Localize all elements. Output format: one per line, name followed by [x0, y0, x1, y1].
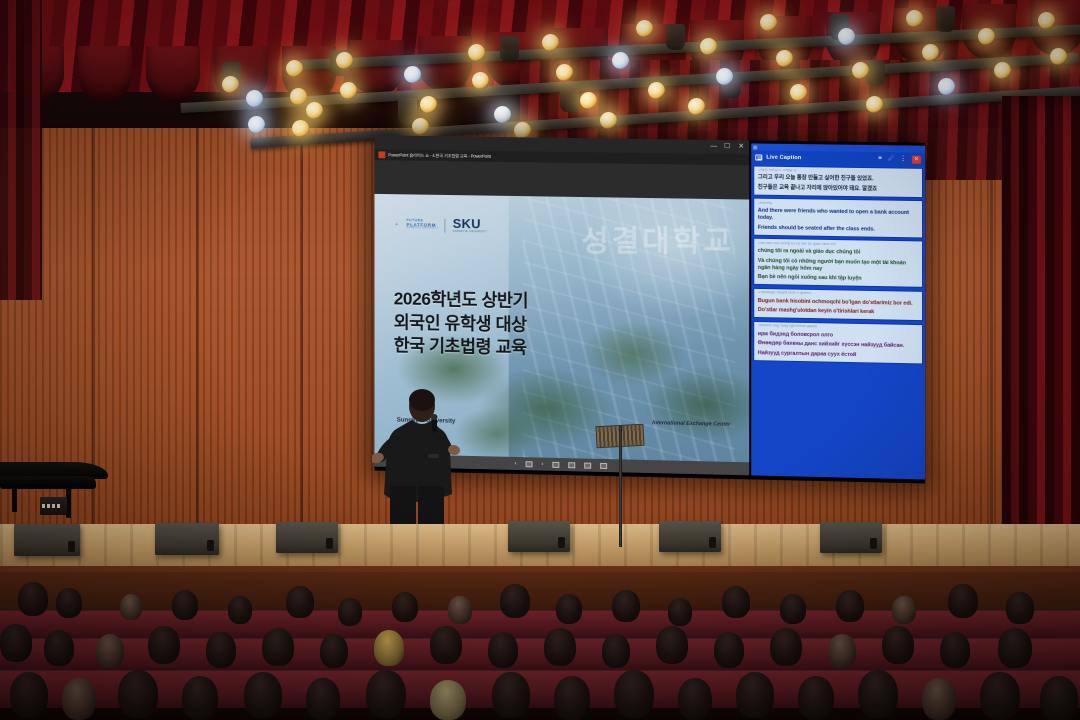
right-stage-curtain [1002, 96, 1080, 566]
stage-monitor [508, 521, 570, 552]
stage-light [248, 116, 265, 133]
caption-line: Bugun bank hisobini ochmoqchi bo'lgan do… [758, 298, 919, 308]
stage-light [938, 78, 955, 95]
stage-light [790, 84, 807, 101]
maximize-icon[interactable]: ☐ [724, 143, 731, 150]
slide-logo-group: ✦ FUTURE PLATFORM SUNGKYUL UNIVERSITY SK… [394, 216, 486, 234]
caption-line: Friends should be seated after the class… [758, 225, 919, 235]
caption-line: ирж бидэнд боловсрол олго [758, 331, 919, 341]
stage-light [292, 120, 309, 137]
stage-light [636, 20, 653, 37]
stage-monitor [155, 523, 219, 555]
sku-logo-text: SKU [453, 217, 487, 230]
stage-monitor [659, 521, 721, 552]
caption-faded-text: Giáo dục của chúng tôi và bạn sẽ quản cả… [758, 242, 919, 249]
caption-list[interactable]: 그래서 여러분이 교육을 다 그리고 우리 오늘 통장 만들고 싶어한 친구들 … [751, 163, 925, 479]
amplifier [40, 497, 67, 515]
caption-block-english: Learning. And there were friends who wan… [753, 198, 923, 238]
caption-line: And there were friends who wanted to ope… [758, 208, 919, 225]
stage-light [600, 112, 617, 129]
close-icon[interactable]: ✕ [738, 143, 745, 150]
caption-line: 그리고 우리 오늘 통장 만들고 싶어한 친구들 있었죠. [758, 175, 919, 184]
sku-logo-sub: SUNGKYUL UNIVERSITY [453, 231, 487, 234]
stage-light [580, 92, 597, 109]
audience-area [0, 572, 1080, 720]
view-sorter-icon[interactable] [568, 462, 575, 468]
ribbon-area [374, 160, 749, 199]
caption-faded-text: Learning. [758, 202, 919, 208]
minimize-icon[interactable]: — [710, 143, 717, 150]
future-platform-mark-icon: ✦ [394, 222, 398, 228]
stage-light [994, 62, 1011, 79]
live-caption-title: Live Caption [766, 154, 873, 162]
view-normal-icon[interactable] [552, 461, 559, 467]
stage-light [306, 102, 323, 119]
stage-light [906, 10, 923, 27]
stage-light [472, 72, 489, 89]
share-icon[interactable]: ☄ [888, 155, 894, 162]
caption-line: 친구들은 교육 끝나고 자리에 앉아있어야 돼요. 알겠죠 [758, 185, 919, 194]
slide-ghost-text: 성결대학교 [581, 216, 735, 260]
view-menu-icon[interactable] [600, 462, 607, 468]
caption-line: Өнөөдөр банкны данс хийхийг хүссэн найзу… [758, 340, 919, 350]
previous-slide-icon[interactable]: ‹ [515, 460, 517, 466]
stage-light [838, 28, 855, 45]
link-icon[interactable]: ⚭ [877, 155, 883, 162]
stage-light [222, 76, 239, 93]
stage-light [246, 90, 263, 107]
stage-monitor [14, 524, 80, 556]
stage-light [700, 38, 717, 55]
stage-light [336, 52, 353, 69]
powerpoint-logo-icon [378, 151, 385, 158]
stage-light [542, 34, 559, 51]
stage-light [852, 62, 869, 79]
caption-block-mongolian: Тиймээс бид танд сургалтын дараа ирж бид… [753, 321, 923, 364]
live-caption-window[interactable]: Live Caption ⚭ ☄ ⋮ ✕ 그래서 여러분이 교육을 다 그리고 … [751, 143, 925, 479]
logo-divider [445, 218, 446, 232]
stage-light [412, 118, 429, 135]
stage-light [612, 52, 629, 69]
stage-light [290, 88, 307, 105]
stage-light [776, 50, 793, 67]
stage-light [688, 98, 705, 115]
stage-monitor [820, 522, 882, 553]
stage-light [468, 44, 485, 61]
stage-light [1038, 12, 1055, 29]
caption-faded-text: O'qishingiz haqida bizni o'qitamiz [758, 291, 919, 298]
system-dot-icon [753, 145, 757, 149]
caption-line: Do'stlar mashg'ulotdan keyin o'tirishlar… [758, 307, 919, 317]
caption-line: chúng tôi ra ngoài và giáo dục chúng tôi [758, 248, 919, 258]
slide-title: 2026학년도 상반기 외국인 유학생 대상 한국 기초법령 교육 [394, 288, 528, 360]
caption-block-uzbek: O'qishingiz haqida bizni o'qitamiz Bugun… [753, 288, 923, 322]
stage-light [1050, 48, 1067, 65]
view-reading-icon[interactable] [584, 462, 591, 468]
stage-monitor [276, 522, 338, 553]
stage-light [978, 28, 995, 45]
window-title: PowerPoint 슬라이드 쇼 - 4.한국 기초법령 교육 - Power… [388, 152, 491, 159]
stage-light [556, 64, 573, 81]
stage-light [648, 82, 665, 99]
caption-faded-text: 그래서 여러분이 교육을 다 [758, 169, 919, 175]
future-platform-sub: SUNGKYUL UNIVERSITY [407, 228, 438, 231]
stage-light [494, 106, 511, 123]
stage-light [340, 82, 357, 99]
kebab-menu-icon[interactable]: ⋮ [900, 155, 907, 162]
stage-light [404, 66, 421, 83]
caption-app-icon [755, 154, 762, 160]
stage-light [922, 44, 939, 61]
slide-title-line2: 외국인 유학생 대상 [394, 311, 528, 337]
pen-tool-icon[interactable] [526, 461, 533, 467]
caption-block-korean: 그래서 여러분이 교육을 다 그리고 우리 오늘 통장 만들고 싶어한 친구들 … [753, 165, 923, 198]
slide-title-line1: 2026학년도 상반기 [394, 288, 528, 314]
left-stage-curtain [0, 0, 42, 300]
stage-light [716, 68, 733, 85]
slide-title-line3: 한국 기초법령 교육 [394, 334, 528, 360]
microphone-stand [619, 425, 622, 547]
stage-light [866, 96, 883, 113]
caption-block-vietnamese: Giáo dục của chúng tôi và bạn sẽ quản cả… [753, 238, 923, 288]
caption-line: Bạn bè nên ngồi xuống sau khi tập luyện [758, 274, 919, 284]
auditorium-photo: — ☐ ✕ PowerPoint 슬라이드 쇼 - 4.한국 기초법령 교육 -… [0, 0, 1080, 720]
close-icon[interactable]: ✕ [912, 155, 921, 163]
caption-line: Найзууд сургалтын дараа суух ёстой [758, 350, 919, 360]
stage-light [760, 14, 777, 31]
stage-light [286, 60, 303, 77]
next-slide-icon[interactable]: › [541, 461, 543, 467]
stage-light [420, 96, 437, 113]
caption-line: Và chúng tôi có những người bạn muốn tạo… [758, 258, 919, 275]
